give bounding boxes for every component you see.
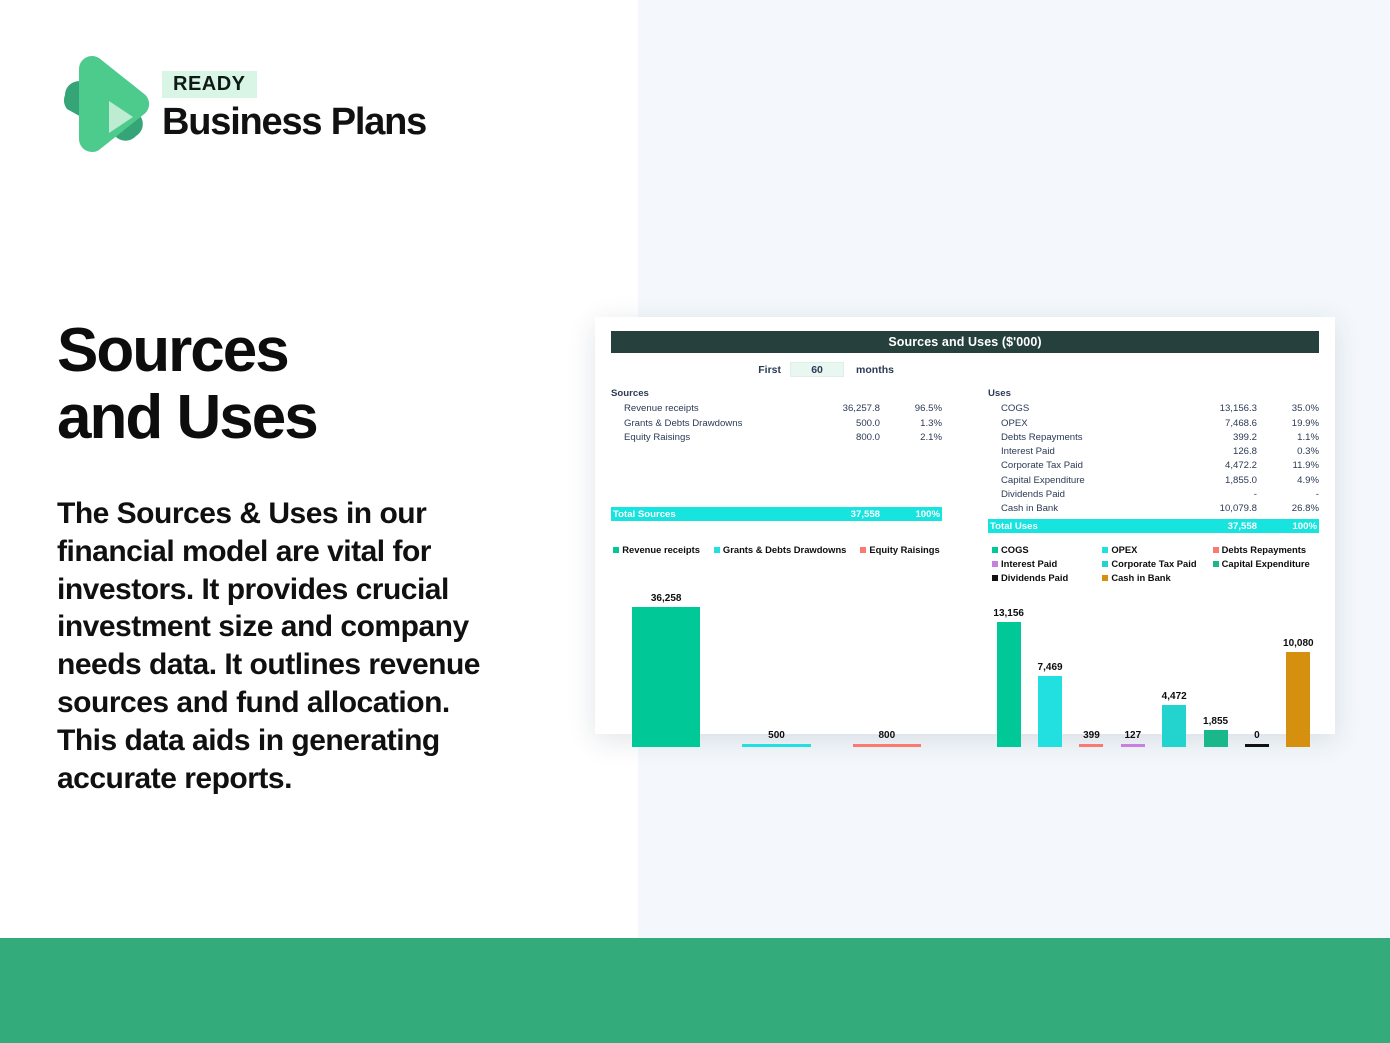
legend-swatch-icon xyxy=(1213,561,1219,567)
bar-column: 13,156 xyxy=(988,593,1029,747)
uses-table-column: Uses COGS 13,156.3 35.0% OPEX 7,468.6 19… xyxy=(988,387,1319,533)
total-uses-row: Total Uses 37,558 100% xyxy=(988,519,1319,533)
bar-column: 399 xyxy=(1071,593,1112,747)
legend-item: COGS xyxy=(992,544,1098,555)
bar-column: 800 xyxy=(832,593,942,747)
bar-column: 500 xyxy=(721,593,831,747)
bar-value-label: 0 xyxy=(1254,730,1260,741)
bar xyxy=(1038,676,1062,747)
uses-legend: COGSOPEXDebts RepaymentsInterest PaidCor… xyxy=(988,544,1319,583)
uses-header-row: Uses xyxy=(988,387,1319,402)
bar xyxy=(742,744,810,747)
page-title: Sources and Uses xyxy=(57,318,577,452)
tables-region: Sources Revenue receipts 36,257.8 96.5% … xyxy=(611,387,1319,533)
bar-value-label: 127 xyxy=(1124,730,1141,741)
legend-swatch-icon xyxy=(1102,575,1108,581)
sources-header-row: Sources xyxy=(611,387,942,402)
legend-item: Grants & Debts Drawdowns xyxy=(714,544,846,555)
legend-item: Debts Repayments xyxy=(1213,544,1319,555)
table-row: Interest Paid 126.8 0.3% xyxy=(988,445,1319,459)
legend-label: Capital Expenditure xyxy=(1222,558,1310,569)
legend-label: Cash in Bank xyxy=(1111,572,1170,583)
legend-label: OPEX xyxy=(1111,544,1137,555)
legend-label: Equity Raisings xyxy=(869,544,939,555)
legend-swatch-icon xyxy=(1102,547,1108,553)
charts-region: 36,258500800 13,1567,4693991274,4721,855… xyxy=(611,593,1319,761)
legend-label: Debts Repayments xyxy=(1222,544,1306,555)
bar-column: 4,472 xyxy=(1154,593,1195,747)
legend-swatch-icon xyxy=(860,547,866,553)
bar-column: 36,258 xyxy=(611,593,721,747)
bar xyxy=(1204,730,1228,748)
bar-value-label: 36,258 xyxy=(651,593,682,604)
body-paragraph: The Sources & Uses in our financial mode… xyxy=(57,495,502,797)
table-row: Cash in Bank 10,079.8 26.8% xyxy=(988,502,1319,516)
headline-line-2: and Uses xyxy=(57,385,577,452)
brand-wordmark: READY Business Plans xyxy=(162,55,426,141)
bottom-green-band xyxy=(0,938,1390,1043)
sources-table: Sources Revenue receipts 36,257.8 96.5% … xyxy=(611,387,942,445)
sources-bar-chart: 36,258500800 xyxy=(611,593,942,761)
uses-bar-chart: 13,1567,4693991274,4721,855010,080 xyxy=(988,593,1319,761)
period-unit-label: months xyxy=(844,364,894,376)
uses-table: Uses COGS 13,156.3 35.0% OPEX 7,468.6 19… xyxy=(988,387,1319,516)
bar-value-label: 500 xyxy=(768,730,785,741)
legend-label: Interest Paid xyxy=(1001,558,1057,569)
bar xyxy=(1286,652,1310,748)
legend-swatch-icon xyxy=(992,561,998,567)
table-row: Grants & Debts Drawdowns 500.0 1.3% xyxy=(611,417,942,431)
legend-label: Dividends Paid xyxy=(1001,572,1068,583)
play-triangle-logo-icon xyxy=(57,55,150,155)
legend-item: Interest Paid xyxy=(992,558,1098,569)
table-row: Debts Repayments 399.2 1.1% xyxy=(988,431,1319,445)
sources-legend: Revenue receiptsGrants & Debts Drawdowns… xyxy=(611,544,942,583)
bar-column: 7,469 xyxy=(1029,593,1070,747)
legend-swatch-icon xyxy=(1102,561,1108,567)
table-row: Corporate Tax Paid 4,472.2 11.9% xyxy=(988,459,1319,473)
period-months-input[interactable]: 60 xyxy=(790,362,844,377)
legend-label: Grants & Debts Drawdowns xyxy=(723,544,846,555)
sources-and-uses-card: Sources and Uses ($'000) First 60 months… xyxy=(595,317,1335,734)
bar xyxy=(632,607,700,747)
legend-item: Equity Raisings xyxy=(860,544,939,555)
legend-swatch-icon xyxy=(992,575,998,581)
legend-item: Capital Expenditure xyxy=(1213,558,1319,569)
bar-value-label: 7,469 xyxy=(1038,662,1063,673)
sources-table-column: Sources Revenue receipts 36,257.8 96.5% … xyxy=(611,387,942,533)
legend-item: OPEX xyxy=(1102,544,1208,555)
bar-value-label: 10,080 xyxy=(1283,638,1314,649)
bar-value-label: 800 xyxy=(878,730,895,741)
legend-swatch-icon xyxy=(1213,547,1219,553)
bar-column: 0 xyxy=(1236,593,1277,747)
legend-swatch-icon xyxy=(714,547,720,553)
period-selector-row: First 60 months xyxy=(611,362,1319,377)
bar xyxy=(997,622,1021,747)
card-title-bar: Sources and Uses ($'000) xyxy=(611,331,1319,353)
table-row: Capital Expenditure 1,855.0 4.9% xyxy=(988,474,1319,488)
legend-item: Cash in Bank xyxy=(1102,572,1208,583)
uses-header-label: Uses xyxy=(988,387,1177,402)
period-prefix-label: First xyxy=(746,364,790,376)
legend-item: Revenue receipts xyxy=(613,544,700,555)
ready-chip: READY xyxy=(162,71,257,98)
legend-item: Dividends Paid xyxy=(992,572,1098,583)
legend-label: Revenue receipts xyxy=(622,544,700,555)
headline-line-1: Sources xyxy=(57,318,577,385)
bar-value-label: 13,156 xyxy=(993,608,1024,619)
table-row: OPEX 7,468.6 19.9% xyxy=(988,417,1319,431)
bar-value-label: 399 xyxy=(1083,730,1100,741)
chart-legends: Revenue receiptsGrants & Debts Drawdowns… xyxy=(611,544,1319,583)
bar xyxy=(1245,744,1269,747)
table-row: COGS 13,156.3 35.0% xyxy=(988,402,1319,416)
table-row: Revenue receipts 36,257.8 96.5% xyxy=(611,402,942,416)
legend-item: Corporate Tax Paid xyxy=(1102,558,1208,569)
bar xyxy=(853,744,921,747)
table-row: Dividends Paid - - xyxy=(988,488,1319,502)
brand-logo: READY Business Plans xyxy=(57,55,426,155)
sources-header-label: Sources xyxy=(611,387,800,402)
bar-column: 1,855 xyxy=(1195,593,1236,747)
legend-label: Corporate Tax Paid xyxy=(1111,558,1196,569)
total-sources-row: Total Sources 37,558 100% xyxy=(611,507,942,521)
bar-column: 10,080 xyxy=(1278,593,1319,747)
legend-swatch-icon xyxy=(992,547,998,553)
bar-value-label: 4,472 xyxy=(1162,691,1187,702)
bar xyxy=(1079,744,1103,748)
legend-swatch-icon xyxy=(613,547,619,553)
bar xyxy=(1121,744,1145,747)
brand-name: Business Plans xyxy=(162,103,426,141)
legend-label: COGS xyxy=(1001,544,1029,555)
bar xyxy=(1162,705,1186,747)
table-row: Equity Raisings 800.0 2.1% xyxy=(611,431,942,445)
bar-value-label: 1,855 xyxy=(1203,716,1228,727)
bar-column: 127 xyxy=(1112,593,1153,747)
